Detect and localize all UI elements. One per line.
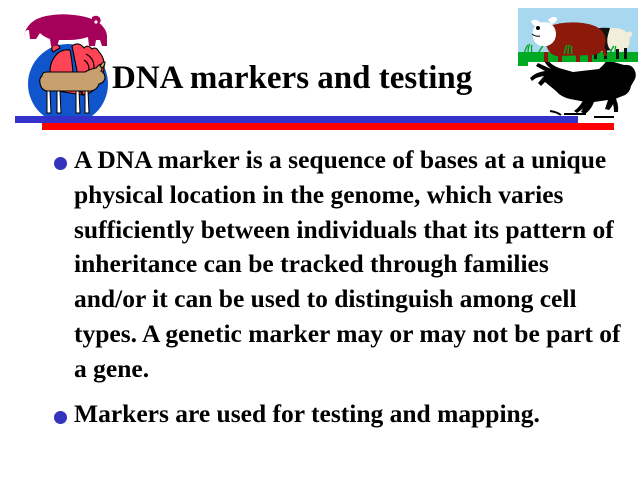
bullet-text: Markers are used for testing and mapping… (74, 397, 626, 432)
page-title: DNA markers and testing (112, 56, 532, 102)
galloping-horse-silhouette-icon (528, 62, 640, 124)
list-item: Markers are used for testing and mapping… (0, 397, 640, 432)
livestock-species-emblem-icon (12, 6, 124, 124)
bullet-dot-icon (54, 157, 67, 170)
header-rule-red (42, 123, 614, 130)
grazing-cattle-photo (518, 8, 638, 66)
header-rule-blue (15, 116, 578, 123)
bullet-text: A DNA marker is a sequence of bases at a… (74, 143, 626, 387)
bullet-dot-icon (54, 411, 67, 424)
slide-header: DNA markers and testing (0, 0, 640, 140)
list-item: A DNA marker is a sequence of bases at a… (0, 143, 640, 387)
slide-body: A DNA marker is a sequence of bases at a… (0, 143, 640, 480)
presentation-slide: DNA markers and testing (0, 0, 640, 480)
